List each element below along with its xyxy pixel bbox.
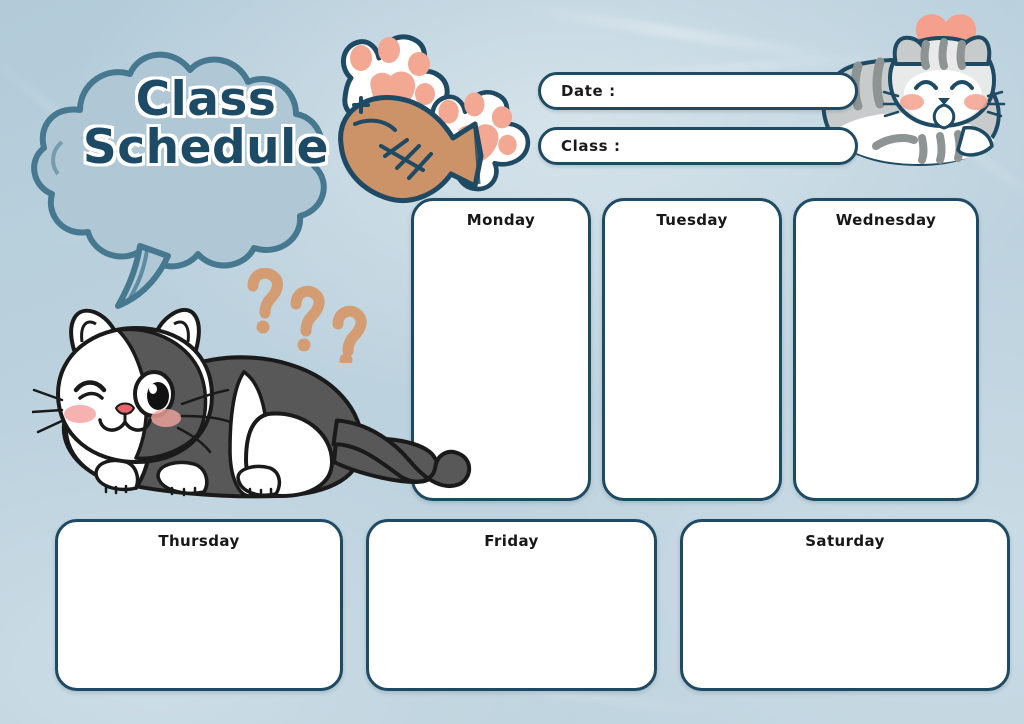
day-card-thursday[interactable]: Thursday [55,519,343,691]
day-notes-friday[interactable] [379,558,644,678]
winking-cat-decoration [32,292,457,507]
day-card-saturday[interactable]: Saturday [680,519,1010,691]
day-label-thursday: Thursday [58,532,340,550]
day-label-friday: Friday [369,532,654,550]
day-label-wednesday: Wednesday [796,211,976,229]
page-title: Class Schedule [56,76,356,172]
day-label-tuesday: Tuesday [605,211,779,229]
cat-winking-icon [32,292,457,507]
date-input[interactable] [616,75,855,107]
class-field-label: Class : [561,137,621,155]
date-field-label: Date : [561,82,616,100]
day-label-saturday: Saturday [683,532,1007,550]
day-notes-thursday[interactable] [68,558,330,678]
day-card-tuesday[interactable]: Tuesday [602,198,782,501]
day-card-friday[interactable]: Friday [366,519,657,691]
page-title-line1: Class [56,76,356,124]
day-label-monday: Monday [414,211,588,229]
day-notes-wednesday[interactable] [806,237,966,488]
class-input[interactable] [621,130,855,162]
date-field-row[interactable]: Date : [538,72,858,110]
header-fields: Date : Class : [538,72,858,165]
day-notes-saturday[interactable] [693,558,997,678]
class-schedule-page: Class Schedule [0,0,1024,724]
day-card-wednesday[interactable]: Wednesday [793,198,979,501]
crinkle-streak-1 [521,2,849,65]
page-title-line2: Schedule [56,124,356,172]
day-notes-tuesday[interactable] [615,237,769,488]
class-field-row[interactable]: Class : [538,127,858,165]
